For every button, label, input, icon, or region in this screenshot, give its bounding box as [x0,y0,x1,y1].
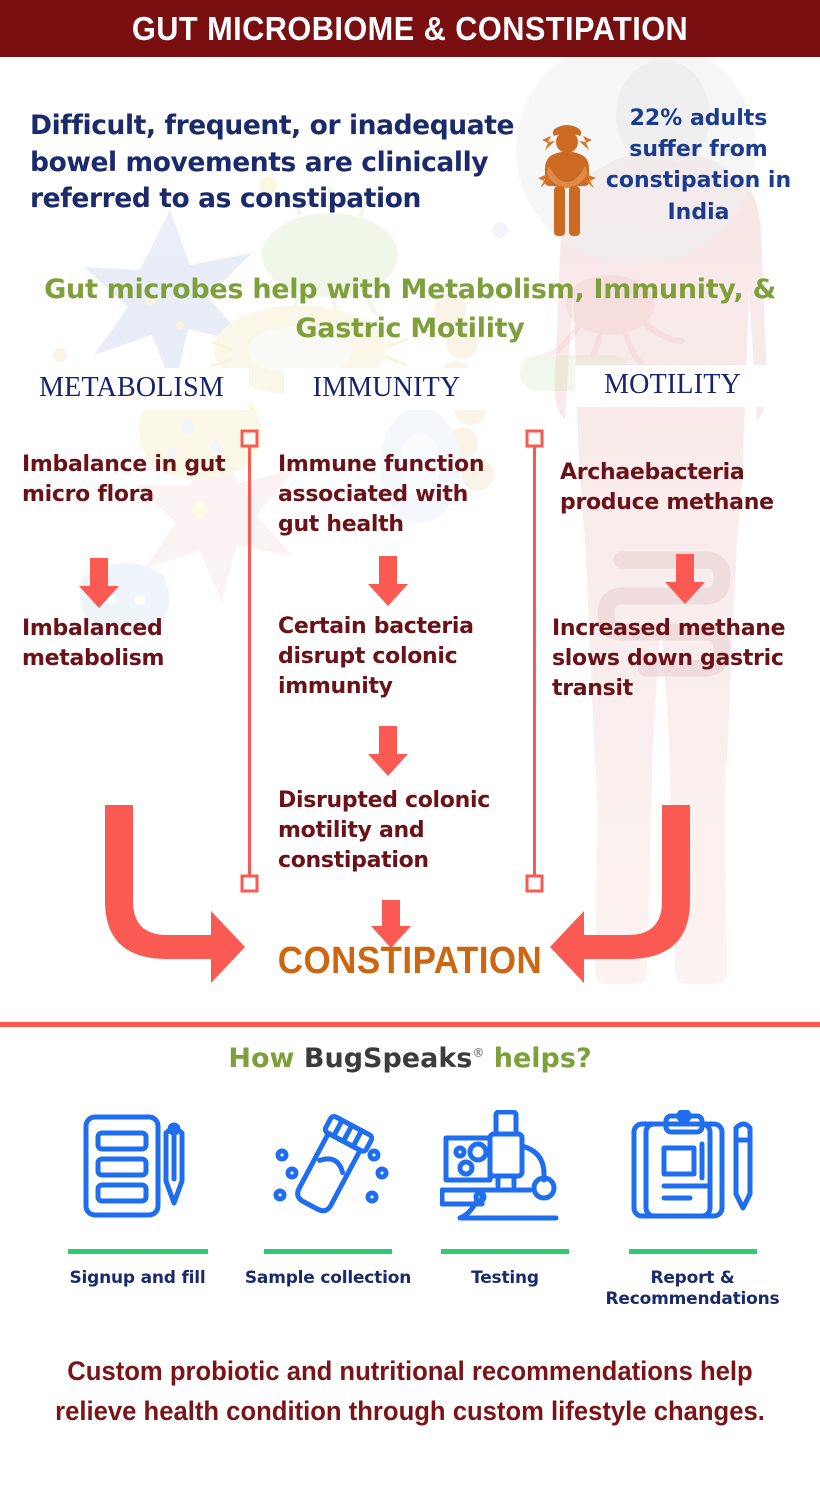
immunity-step-1: Immune function associated with gut heal… [278,450,503,540]
brand-name: BugSpeaks [304,1043,472,1074]
person-in-pain-icon [536,122,598,247]
process-step-sample: Sample collection [228,1098,428,1289]
step-label: Testing [420,1268,590,1289]
step-underline-bar [441,1249,569,1254]
process-step-report: Report & Recommendations [585,1098,800,1311]
helps-prefix: How [228,1043,304,1074]
metabolism-step-1: Imbalance in gut micro flora [22,450,227,510]
step-label: Signup and fill [30,1268,245,1289]
step-label: Report & Recommendations [585,1268,800,1311]
motility-step-1: Archaebacteria produce methane [560,458,800,518]
immunity-step-2: Certain bacteria disrupt colonic immunit… [278,612,493,702]
definition-text: Difficult, frequent, or inadequate bowel… [30,108,530,218]
constipation-outcome-label: CONSTIPATION [33,940,787,983]
gut-microbes-subtitle: Gut microbes help with Metabolism, Immun… [20,270,800,348]
header-bar: GUT MICROBIOME & CONSTIPATION [0,0,820,57]
step-label: Sample collection [228,1268,428,1289]
sample-tube-icon [228,1098,428,1233]
process-steps: Signup and fill Sample collection [0,1098,820,1338]
form-with-pen-icon [30,1098,245,1233]
step-underline-bar [264,1249,392,1254]
helps-suffix: helps? [484,1043,591,1074]
arrow-down-icon [662,554,708,609]
section-divider [0,1022,820,1027]
arrow-down-icon [76,558,122,613]
column-heading-metabolism: METABOLISM [14,368,249,410]
clipboard-with-pencil-icon [585,1098,800,1233]
arrow-down-icon [365,556,411,611]
constipation-statistic: 22% adults suffer from constipation in I… [596,103,801,228]
page-title: GUT MICROBIOME & CONSTIPATION [132,10,688,48]
how-bugspeaks-helps-title: How BugSpeaks® helps? [0,1043,820,1074]
column-heading-motility: MOTILITY [575,365,770,407]
step-underline-bar [68,1249,208,1254]
process-step-signup: Signup and fill [30,1098,245,1289]
process-step-testing: Testing [420,1098,590,1289]
motility-step-2: Increased methane slows down gastric tra… [552,614,807,704]
arrow-down-icon [365,726,411,781]
microscope-icon [420,1098,590,1233]
metabolism-step-2: Imbalanced metabolism [22,614,222,674]
step-underline-bar [629,1249,757,1254]
registered-mark: ® [472,1046,484,1060]
column-heading-immunity: IMMUNITY [284,368,489,410]
immunity-step-3: Disrupted colonic motility and constipat… [278,786,503,876]
footer-recommendation-text: Custom probiotic and nutritional recomme… [40,1352,781,1431]
